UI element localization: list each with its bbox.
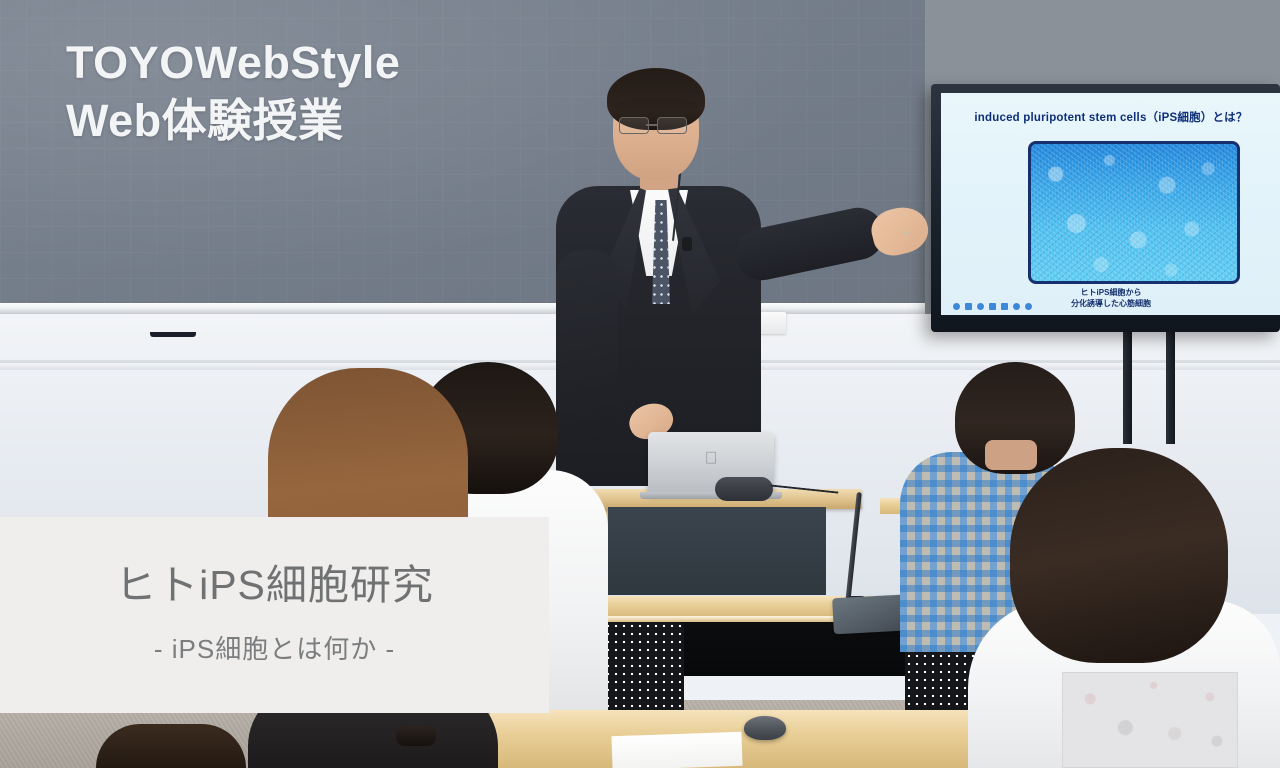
hair-tie [396,726,436,746]
settings-icon[interactable] [1025,303,1032,310]
student-far-left-hair [96,724,246,768]
accessory-pouch [715,477,773,501]
title-line-1: TOYOWebStyle [66,34,400,92]
grid-icon[interactable] [1001,303,1008,310]
screen-icon[interactable] [989,303,996,310]
microscopy-image [1028,141,1240,284]
microscopy-caption-line1: ヒトiPS細胞から [955,287,1267,298]
lapel-microphone-icon [682,237,692,251]
eyeglasses-right-lens [657,117,687,134]
lesson-caption-box: ヒトiPS細胞研究 - iPS細胞とは何か - [0,517,549,713]
eyeglasses-bridge [646,124,658,126]
magnifier-icon[interactable] [977,303,984,310]
student-front-right-hair [1010,448,1228,663]
display-stand-post-left [1123,332,1132,444]
title-line-2: Web体験授業 [66,92,400,150]
eyeglasses-left-lens [619,117,649,134]
display-screen[interactable]: induced pluripotent stem cells（iPS細胞）とは？… [941,93,1280,315]
lesson-title: ヒトiPS細胞研究 [0,551,549,611]
presenter-left-arm [556,250,618,440]
display-toolbar[interactable] [953,303,1032,310]
podium-body [608,507,826,595]
slide-title: induced pluripotent stem cells（iPS細胞）とは？ [955,109,1267,125]
lesson-subtitle: - iPS細胞とは何か - [0,629,549,666]
video-title-overlay: TOYOWebStyle Web体験授業 [66,34,400,150]
apple-logo-icon:  [705,450,718,467]
power-icon[interactable] [953,303,960,310]
tshirt-graphic-print [1062,672,1238,768]
handout-paper [611,732,742,768]
display-stand-post-right [1166,332,1175,444]
presentation-display[interactable]: induced pluripotent stem cells（iPS細胞）とは？… [931,84,1280,332]
brightness-icon[interactable] [1013,303,1020,310]
student-right-check-neck [985,440,1037,470]
display-stand-foot [150,332,196,337]
pen-icon[interactable] [965,303,972,310]
lecture-scene: induced pluripotent stem cells（iPS細胞）とは？… [0,0,1280,768]
conference-microphone[interactable] [744,716,786,740]
